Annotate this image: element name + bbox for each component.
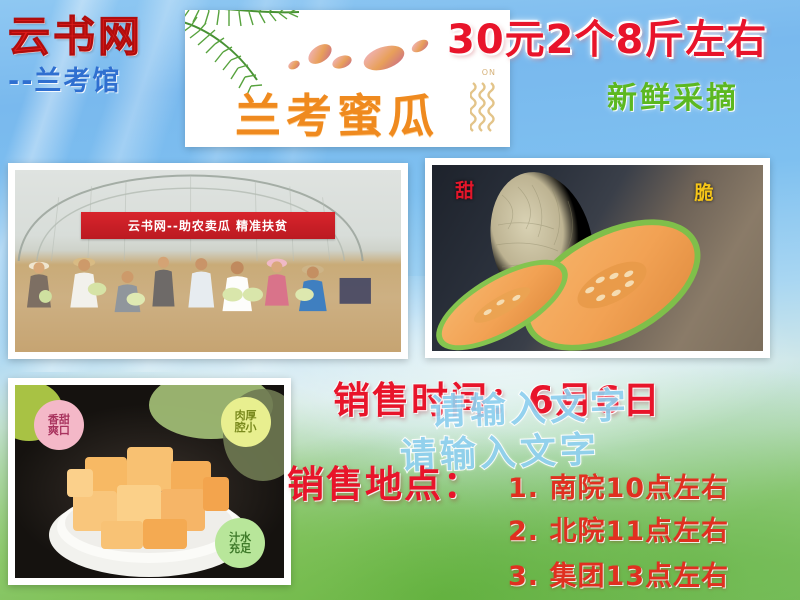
sales-place-label: 销售地点：	[287, 466, 482, 503]
placeholder-watermark-1: 请输入文字	[429, 389, 630, 432]
price-headline: 30元2个8斤左右	[447, 20, 767, 60]
badge-sweet-taste: 香甜 爽口	[34, 400, 84, 450]
farm-group-photo: 云书网--助农卖瓜 精准扶贫	[8, 163, 408, 359]
trademark-mark: ON	[482, 68, 496, 77]
wave-lines-icon	[470, 79, 496, 135]
badge-line-2: 腔小	[235, 422, 257, 434]
melon-closeup-photo: 甜 脆	[425, 158, 770, 358]
brand-name: 云书网	[8, 16, 188, 58]
product-title: 兰考蜜瓜	[235, 93, 439, 139]
farm-banner-slogan: 云书网--助农卖瓜 精准扶贫	[81, 212, 336, 239]
badge-line-2: 爽口	[48, 425, 70, 437]
poster-canvas: 云书网 --兰考馆	[0, 0, 800, 600]
farmers-group	[15, 254, 371, 323]
flower-petal-icon	[280, 32, 440, 92]
farm-banner-text: 云书网--助农卖瓜 精准扶贫	[128, 217, 288, 234]
brand-subname: --兰考馆	[8, 68, 188, 95]
label-crisp: 脆	[694, 178, 713, 205]
label-sweet: 甜	[455, 176, 474, 203]
fresh-picked-label: 新鲜采摘	[607, 84, 739, 114]
badge-line-2: 充足	[229, 543, 251, 555]
sales-place-item-3: 3. 集团13点左右	[508, 563, 729, 590]
sales-place-item-2: 2. 北院11点左右	[508, 518, 729, 545]
brand-logo: 云书网 --兰考馆	[8, 16, 188, 95]
sales-place-item-1: 1. 南院10点左右	[508, 475, 729, 502]
badge-line-1: 肉厚	[235, 410, 257, 422]
badge-thick-flesh: 肉厚 腔小	[221, 397, 271, 447]
melon-cubes-photo: 香甜 爽口 肉厚 腔小 汁水 充足	[8, 378, 291, 585]
